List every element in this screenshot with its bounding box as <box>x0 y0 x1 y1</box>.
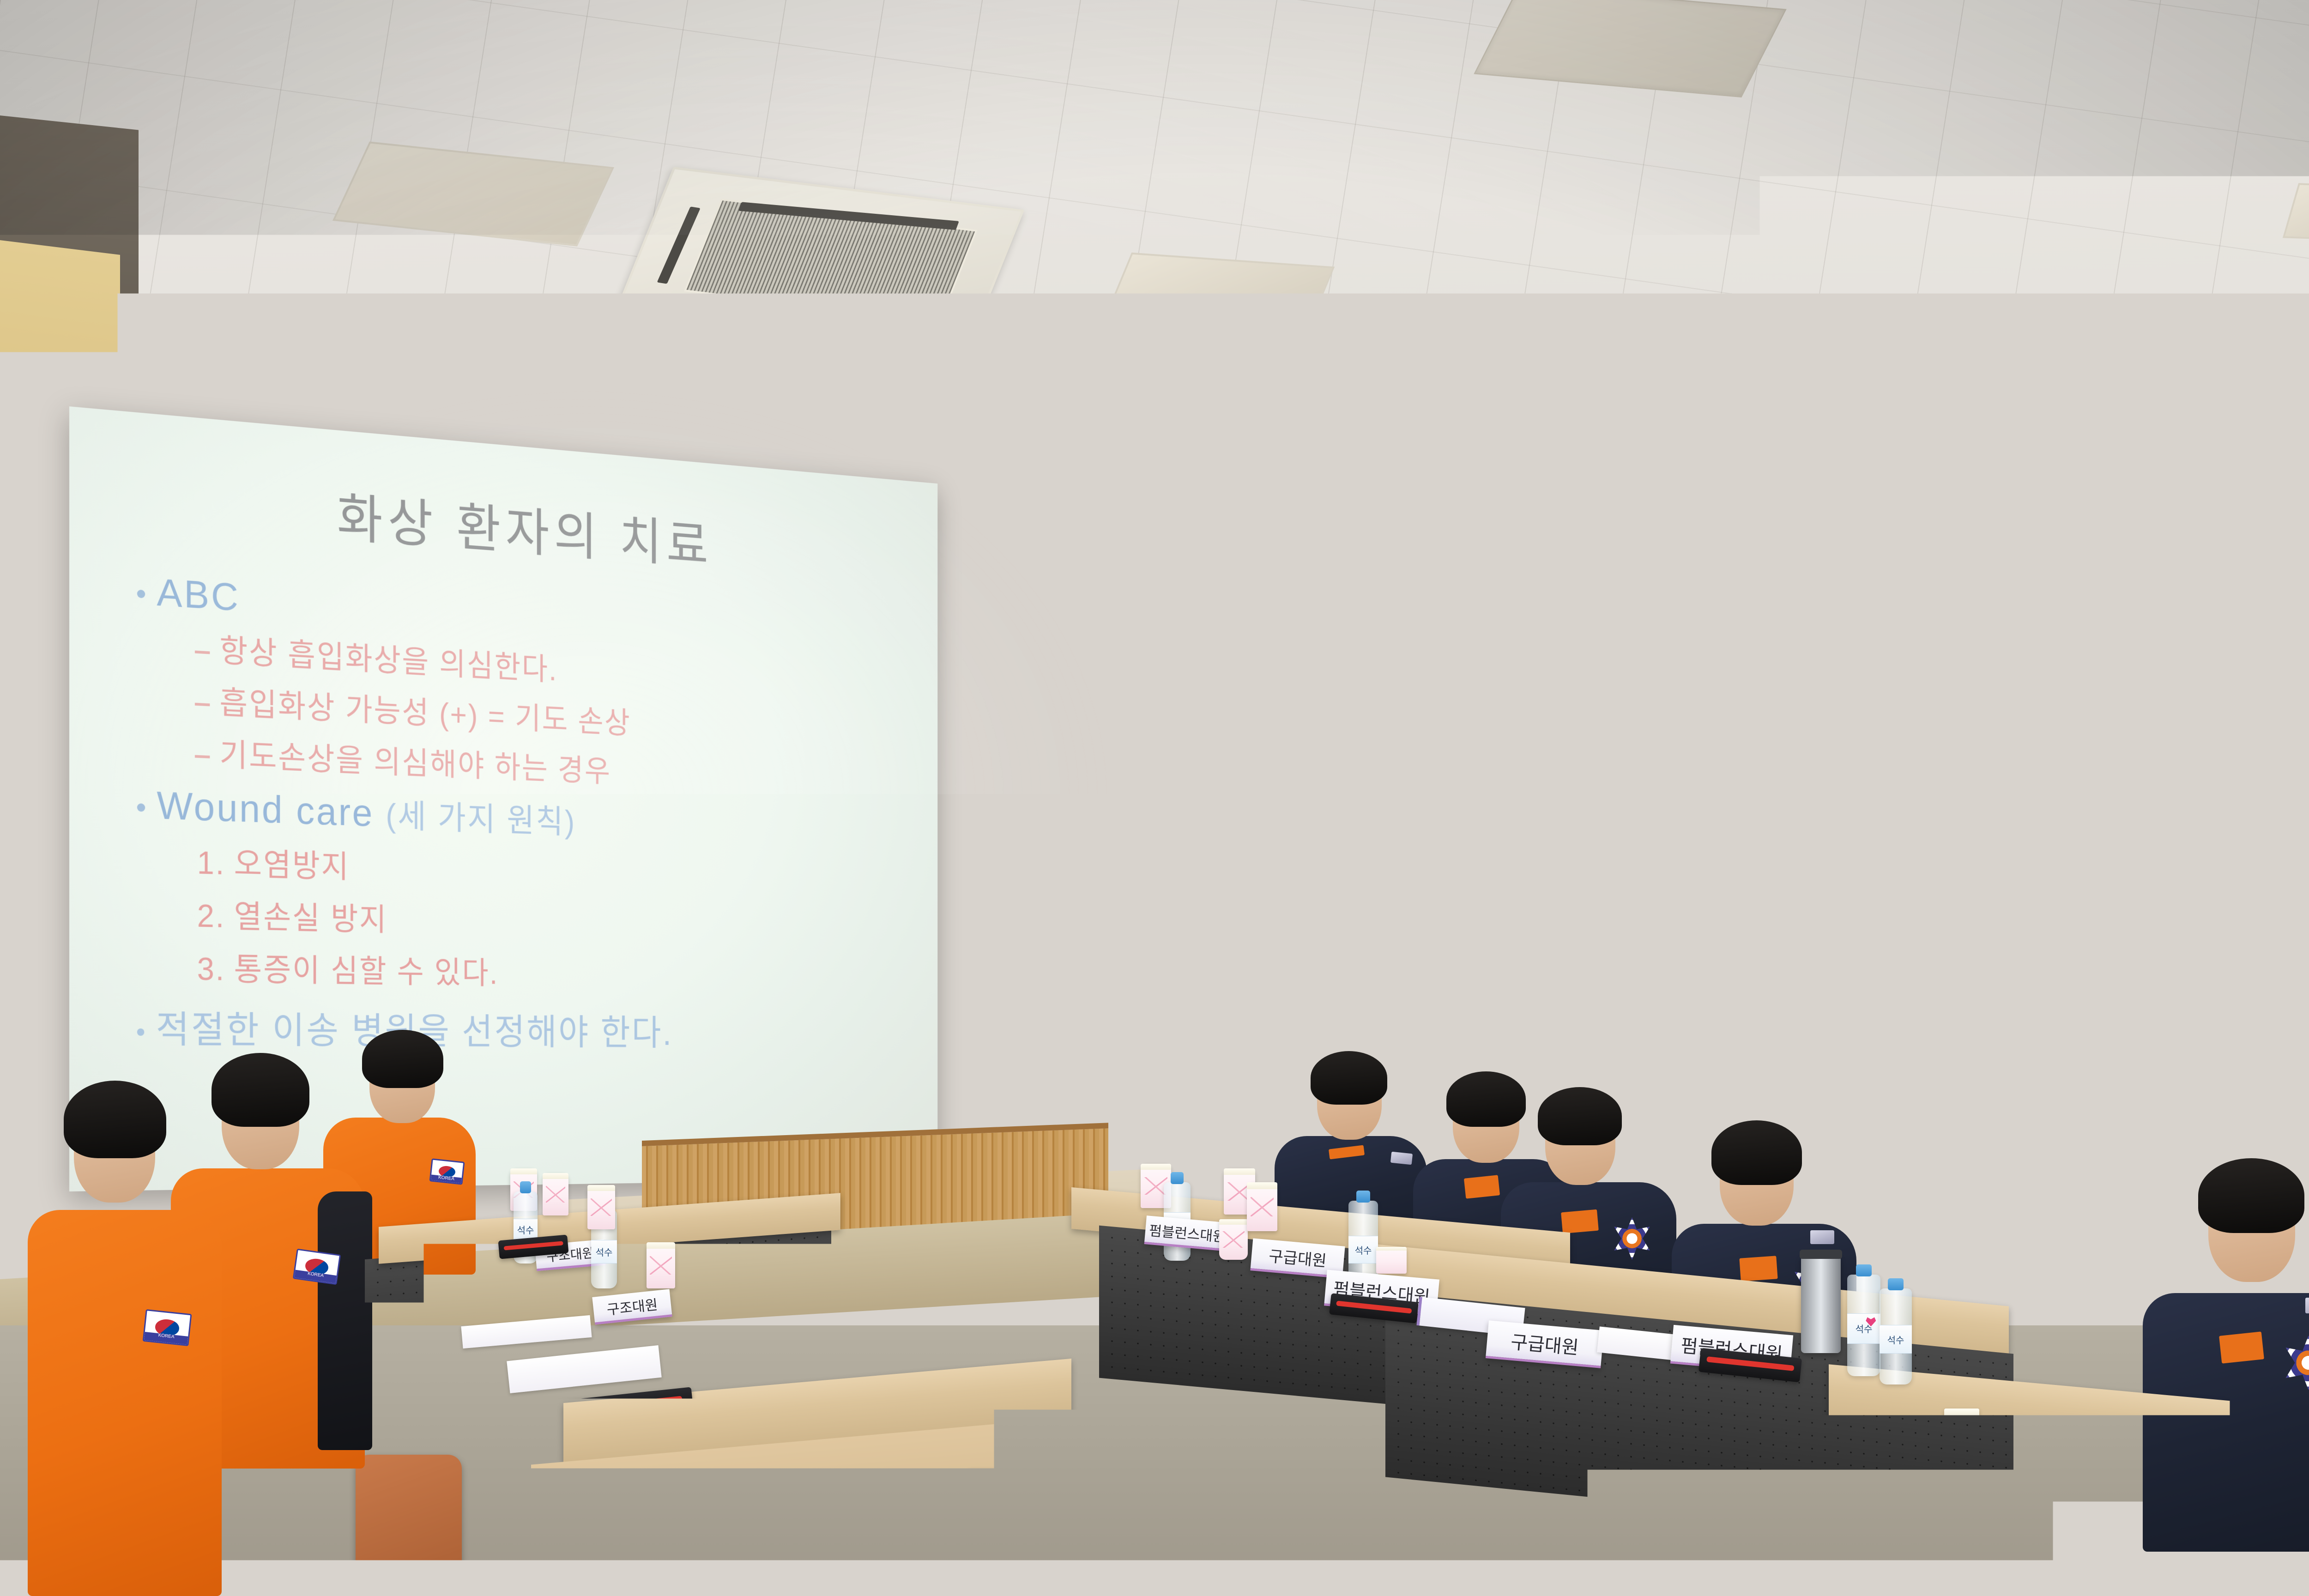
slide-numbered-item-2: 2.열손실 방지 <box>197 890 913 950</box>
bullet-dot-icon <box>137 590 145 598</box>
fire-service-eagle-icon <box>1455 877 1535 956</box>
bottle-cap <box>1356 1191 1371 1203</box>
fluorescent-tube-icon <box>1752 678 2025 685</box>
photo-scene: 화상 환자의 치료 ABC 항상 흡입화상을 의심한다. 흡입화상 가능성 (+… <box>0 0 2309 1596</box>
speaker-wall-plate <box>2143 688 2163 744</box>
chair <box>356 1455 462 1596</box>
paper-cup <box>543 1173 568 1215</box>
attendee: KOREA <box>28 1081 222 1596</box>
korea-flag-patch-icon: KOREA <box>429 1158 465 1185</box>
attendee-hair <box>1538 1087 1622 1145</box>
list-number: 2. <box>197 898 234 935</box>
gold-eagle-emblem-icon <box>1870 1159 1944 1208</box>
attendee-hair <box>2198 1158 2304 1233</box>
rescue-jacket <box>28 1210 222 1596</box>
podium-paper-cup <box>1930 1034 1954 1063</box>
bottle-cap <box>520 1181 532 1193</box>
bottle-cap <box>765 1338 779 1350</box>
name-card: 구조대원 <box>903 1508 976 1561</box>
flag-tassel <box>1431 760 1452 843</box>
attendee-hair <box>1311 1051 1387 1105</box>
attendee-hair <box>212 1053 309 1127</box>
attendee-hair <box>1711 1120 1802 1185</box>
paper-cup <box>1247 1182 1277 1231</box>
dash-marker-icon <box>195 650 210 654</box>
bottle-label: 석수 <box>591 1240 617 1263</box>
bottle-cap <box>1171 1172 1184 1184</box>
rank-insignia <box>1810 1230 1834 1244</box>
paper-cup <box>587 1185 615 1229</box>
slide-numbered-item-3: 3.통증이 심할 수 있다. <box>197 943 913 998</box>
water-bottle: 석수 <box>1880 1288 1912 1384</box>
door-knob-icon[interactable] <box>1597 947 1609 969</box>
ceiling-light-panel <box>1750 309 1995 395</box>
dash-marker-icon <box>195 755 210 758</box>
pen-icon <box>2248 1514 2309 1529</box>
korea-flag-patch-icon: KOREA <box>293 1249 341 1285</box>
pen-icon <box>1336 1300 1412 1313</box>
rank-insignia <box>1390 1152 1413 1165</box>
name-tape <box>1739 1256 1777 1281</box>
water-bottle: 석수 <box>1847 1275 1880 1376</box>
glasses-icon <box>2042 936 2104 948</box>
slide-bullet-wound-care-suffix: (세 가지 원칙) <box>386 797 576 840</box>
travel-tumbler <box>1801 1256 1841 1353</box>
flag-finial-icon <box>1432 725 1448 750</box>
ceiling-light-panel <box>1104 253 1335 334</box>
name-tape <box>2219 1331 2264 1363</box>
water-bottle: 석수 <box>970 1524 1008 1596</box>
pen-icon <box>722 1536 853 1556</box>
attendee-hair <box>362 1030 443 1088</box>
name-tape <box>2064 1228 2105 1256</box>
bottle-cap <box>1888 1278 1904 1290</box>
bullet-dot-icon <box>137 1028 145 1036</box>
patch-label: KOREA <box>431 1174 462 1183</box>
fluorescent-tube-icon <box>1745 680 1750 977</box>
dash-marker-icon <box>195 702 210 706</box>
list-number: 1. <box>197 845 234 882</box>
ceiling-speaker-icon <box>1348 383 1381 398</box>
name-tape <box>1561 1209 1599 1234</box>
bullet-dot-icon <box>137 804 145 812</box>
pen-icon <box>1707 1356 1794 1371</box>
microphone-head-icon <box>1820 994 1837 1010</box>
rank-insignia <box>2305 1298 2309 1313</box>
ceiling-sprinkler-icon <box>674 397 699 409</box>
slide-title: 화상 환자의 치료 <box>101 455 913 592</box>
bottle-label: 석수 <box>1880 1325 1912 1354</box>
attendee-hair <box>2040 1079 2135 1146</box>
pen-icon <box>503 1241 563 1251</box>
name-tape <box>1464 1175 1500 1198</box>
bottle-label: 석수 <box>1847 1313 1880 1344</box>
bottle-cap <box>979 1514 997 1526</box>
wall-alcove-right <box>2249 647 2309 840</box>
bottle-label: 석수 <box>1348 1236 1378 1263</box>
list-number: 3. <box>197 951 234 988</box>
tumbler-lid <box>1800 1250 1843 1259</box>
paper-cup <box>1219 1219 1248 1260</box>
paper-cup <box>647 1242 675 1288</box>
pa-speaker-icon <box>1985 606 2126 753</box>
korea-flag-patch-icon: KOREA <box>143 1309 192 1346</box>
bottle-cap <box>1856 1264 1872 1276</box>
paper-cup <box>1376 1247 1407 1274</box>
jacket-sleeve <box>318 1191 372 1450</box>
slide-bullet-transport: 적절한 이송 병원을 선정해야 한다. <box>137 999 913 1056</box>
attendee-hair <box>64 1081 166 1158</box>
